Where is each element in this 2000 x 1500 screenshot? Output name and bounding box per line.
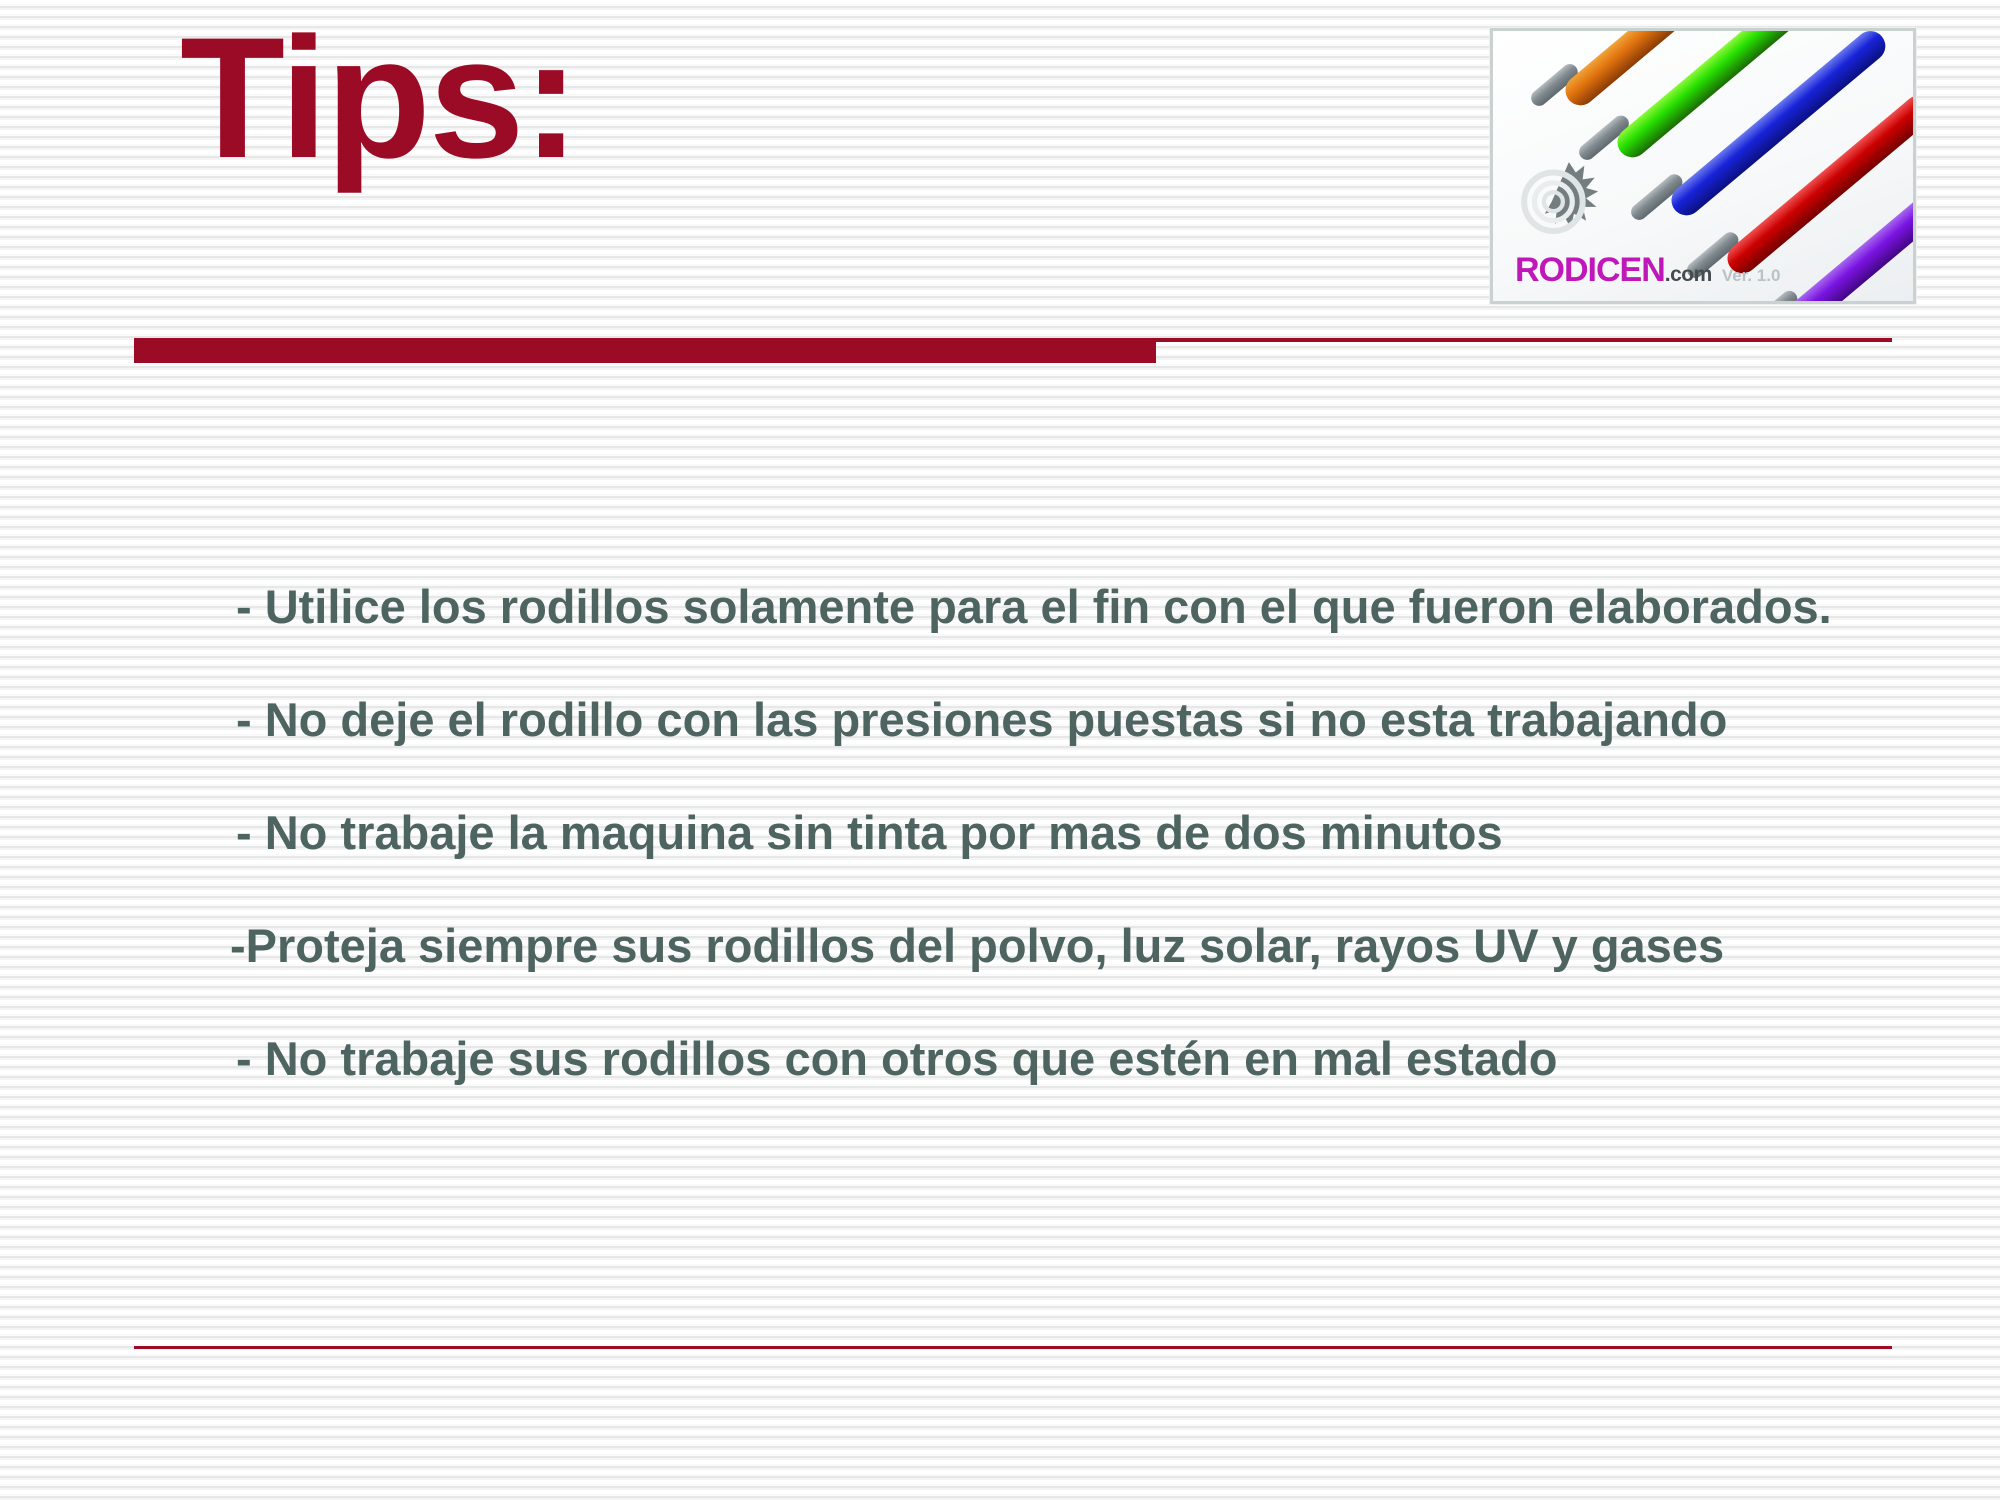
- title-divider-thin: [1156, 338, 1892, 342]
- bullet-item: - No trabaje la maquina sin tinta por ma…: [236, 806, 1916, 861]
- rodicen-logo: RODICEN.comVer. 1.0: [1490, 28, 1916, 304]
- logo-image: RODICEN.comVer. 1.0: [1493, 31, 1913, 301]
- logo-wordmark-com: .com: [1665, 263, 1712, 286]
- bullet-item: - No deje el rodillo con las presiones p…: [236, 693, 1916, 748]
- slide: Tips: RODICEN.comVer. 1.0: [0, 0, 2000, 1500]
- logo-wordmark-version: Ver. 1.0: [1722, 266, 1781, 285]
- footer-divider: [134, 1346, 1892, 1349]
- bullet-item: - No trabaje sus rodillos con otros que …: [236, 1032, 1916, 1087]
- bullet-list: - Utilice los rodillos solamente para el…: [236, 580, 1916, 1087]
- logo-wordmark-main: RODICEN: [1515, 251, 1665, 289]
- bullet-item: - Utilice los rodillos solamente para el…: [236, 580, 1916, 635]
- gear-icon: [1519, 157, 1605, 243]
- logo-wordmark: RODICEN.comVer. 1.0: [1515, 253, 1780, 287]
- bullet-item: -Proteja siempre sus rodillos del polvo,…: [230, 919, 1916, 974]
- title-divider-thick: [134, 338, 1156, 363]
- page-title: Tips:: [180, 8, 578, 189]
